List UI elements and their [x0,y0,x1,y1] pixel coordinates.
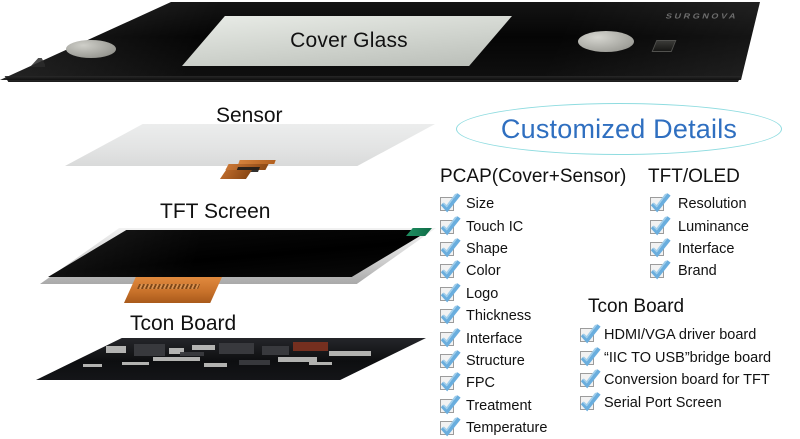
checklist-item-label: Resolution [678,196,747,212]
checkbox-checked-icon[interactable] [440,287,454,301]
checklist-item[interactable]: Treatment [440,395,547,417]
checkbox-checked-icon[interactable] [440,421,454,435]
checklist-item-label: Shape [466,241,508,257]
checklist-item-label: FPC [466,375,495,391]
checklist-item[interactable]: “IIC TO USB”bridge board [580,347,771,370]
layer-cover-glass: SURGNOVA Cover Glass [0,2,760,94]
pcap-checklist: SizeTouch ICShapeColorLogoThicknessInter… [440,193,547,439]
checklist-item[interactable]: Touch IC [440,215,547,237]
customized-details-badge: Customized Details [456,103,782,155]
layer-tcon-board [18,310,458,430]
checklist-item-label: HDMI/VGA driver board [604,327,756,343]
pcap-column-title: PCAP(Cover+Sensor) [440,166,626,188]
slide-canvas: SURGNOVA Cover Glass Sensor TFT Screen [0,0,800,439]
checklist-item-label: Treatment [466,398,532,414]
checklist-item[interactable]: Thickness [440,305,547,327]
checkbox-checked-icon[interactable] [650,264,664,278]
checklist-item[interactable]: Luminance [650,215,749,237]
checklist-item[interactable]: Conversion board for TFT [580,369,771,392]
checkbox-checked-icon[interactable] [440,197,454,211]
checklist-item[interactable]: Temperature [440,417,547,439]
tft-flex-cable [124,277,222,303]
checkbox-checked-icon[interactable] [440,332,454,346]
checklist-item-label: Logo [466,286,498,302]
checklist-item-label: Thickness [466,308,531,324]
checklist-item[interactable]: Logo [440,283,547,305]
checklist-item-label: Touch IC [466,219,523,235]
checklist-item[interactable]: Brand [650,260,749,282]
checkbox-checked-icon[interactable] [650,220,664,234]
checkbox-checked-icon[interactable] [650,242,664,256]
cover-glass-marker-icon-left [30,58,45,67]
checkbox-checked-icon[interactable] [440,399,454,413]
cover-glass-sensor-hole-right [578,31,634,52]
checklist-item-label: Color [466,263,501,279]
layer-label-sensor: Sensor [216,104,283,128]
checkbox-checked-icon[interactable] [440,376,454,390]
checklist-item[interactable]: Structure [440,350,547,372]
checkbox-checked-icon[interactable] [440,309,454,323]
tft-oled-checklist: ResolutionLuminanceInterfaceBrand [650,193,749,283]
checkbox-checked-icon[interactable] [440,354,454,368]
checklist-item-label: Luminance [678,219,749,235]
cover-glass-edge [0,76,760,82]
checklist-item-label: Brand [678,263,717,279]
sensor-flex-cable [223,160,275,184]
checklist-item[interactable]: Color [440,260,547,282]
checkbox-checked-icon[interactable] [440,242,454,256]
checklist-item[interactable]: Serial Port Screen [580,392,771,415]
checkbox-checked-icon[interactable] [650,197,664,211]
checklist-item-label: Conversion board for TFT [604,372,770,388]
checklist-item[interactable]: Interface [440,327,547,349]
checkbox-checked-icon[interactable] [580,396,594,410]
tcon-pcb [36,338,426,380]
checklist-item[interactable]: Shape [440,238,547,260]
checklist-item-label: Serial Port Screen [604,395,722,411]
tcon-board-column-title: Tcon Board [588,296,684,318]
checkbox-checked-icon[interactable] [580,373,594,387]
checklist-item-label: Interface [678,241,734,257]
brand-logo-text: SURGNOVA [665,12,739,20]
cover-glass-sensor-hole-left [66,40,116,58]
tft-oled-column-title: TFT/OLED [648,166,740,188]
checklist-item-label: “IIC TO USB”bridge board [604,350,771,366]
checklist-item-label: Structure [466,353,525,369]
customized-details-panel: Customized Details PCAP(Cover+Sensor) Si… [436,100,800,439]
cover-glass-viewing-area: Cover Glass [182,16,512,66]
tcon-board-checklist: HDMI/VGA driver board“IIC TO USB”bridge … [580,324,771,414]
checklist-item[interactable]: Size [440,193,547,215]
checkbox-checked-icon[interactable] [580,351,594,365]
checklist-item-label: Size [466,196,494,212]
checklist-item[interactable]: HDMI/VGA driver board [580,324,771,347]
checklist-item[interactable]: Interface [650,238,749,260]
checklist-item[interactable]: Resolution [650,193,749,215]
layer-label-cover-glass: Cover Glass [290,29,408,53]
layer-label-tft-screen: TFT Screen [160,200,270,224]
checklist-item-label: Temperature [466,420,547,436]
checkbox-checked-icon[interactable] [440,220,454,234]
layer-label-tcon-board: Tcon Board [130,312,236,336]
checkbox-checked-icon[interactable] [580,328,594,342]
badge-title: Customized Details [456,103,782,155]
checkbox-checked-icon[interactable] [440,264,454,278]
checklist-item-label: Interface [466,331,522,347]
checklist-item[interactable]: FPC [440,372,547,394]
